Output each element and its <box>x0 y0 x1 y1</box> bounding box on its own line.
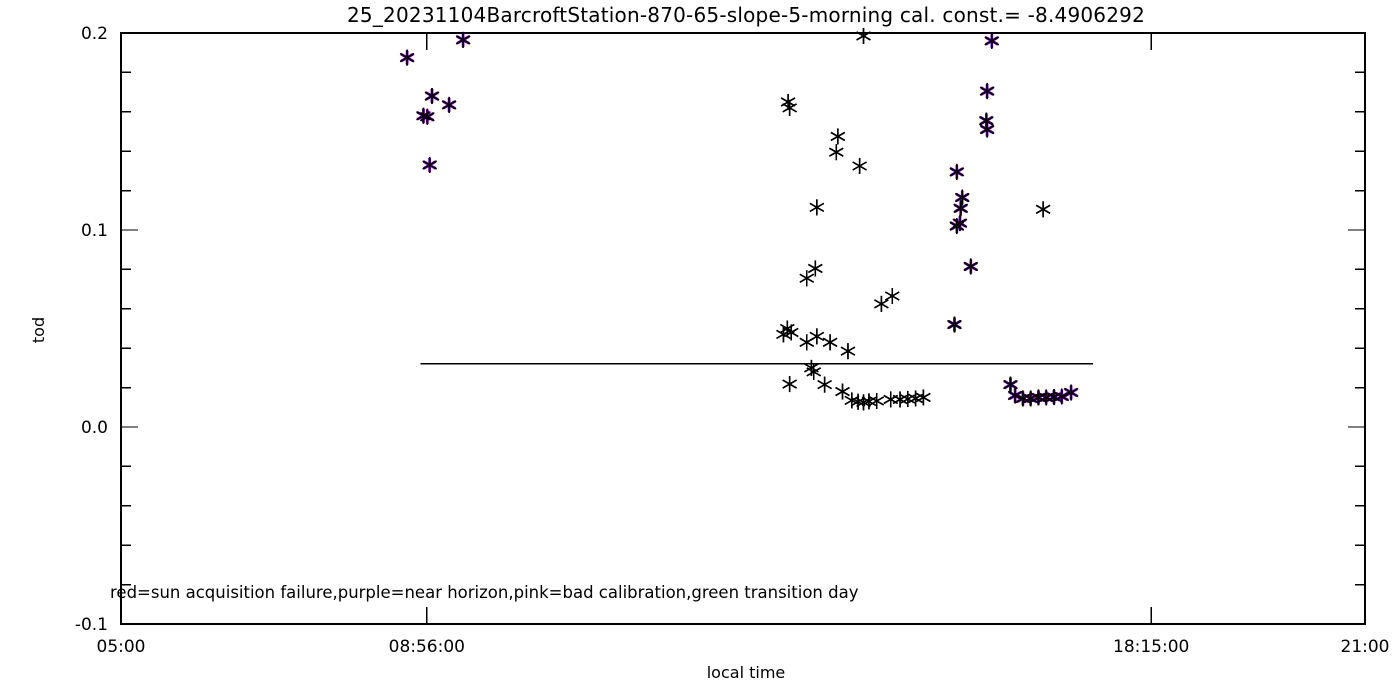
marker-asterisk <box>901 391 915 407</box>
marker-asterisk <box>442 97 456 113</box>
x-tick-label: 05:00 <box>97 637 146 657</box>
marker-asterisk <box>884 391 898 407</box>
marker-asterisk <box>425 88 439 104</box>
y-tick-labels: 0.20.10.0-0.1 <box>75 24 108 635</box>
marker-asterisk <box>1036 201 1050 217</box>
x-axis-label: local time <box>707 663 786 682</box>
marker-asterisk <box>783 100 797 116</box>
x-tick-label: 18:15:00 <box>1113 637 1189 657</box>
marker-asterisk <box>818 377 832 393</box>
plot-canvas: 25_20231104BarcroftStation-870-65-slope-… <box>0 0 1400 700</box>
data-markers <box>400 28 1078 410</box>
marker-asterisk <box>893 391 907 407</box>
marker-asterisk <box>874 296 888 312</box>
marker-asterisk <box>456 32 470 48</box>
x-tick-label: 08:56:00 <box>389 637 465 657</box>
marker-asterisk <box>810 328 824 344</box>
marker-asterisk <box>808 260 822 276</box>
marker-asterisk <box>423 157 437 173</box>
marker-asterisk <box>950 164 964 180</box>
y-tick-label: 0.1 <box>81 221 108 241</box>
y-tick-label: -0.1 <box>75 615 108 635</box>
marker-asterisk <box>870 393 884 409</box>
marker-asterisk <box>823 334 837 350</box>
axis-ticks <box>121 33 1365 624</box>
marker-asterisk <box>955 190 969 206</box>
marker-asterisk <box>853 158 867 174</box>
marker-asterisk <box>831 128 845 144</box>
y-tick-label: 0.2 <box>81 24 108 44</box>
marker-asterisk <box>980 83 994 99</box>
marker-asterisk <box>841 343 855 359</box>
plot-title: 25_20231104BarcroftStation-870-65-slope-… <box>347 3 1145 27</box>
marker-asterisk <box>985 33 999 49</box>
marker-asterisk <box>857 28 871 44</box>
x-tick-labels: 05:0008:56:0018:15:0021:00 <box>97 637 1390 657</box>
marker-asterisk <box>800 334 814 350</box>
marker-asterisk <box>800 270 814 286</box>
plot-frame <box>121 33 1365 624</box>
y-tick-label: 0.0 <box>81 418 108 438</box>
marker-asterisk <box>783 376 797 392</box>
x-tick-label: 21:00 <box>1341 637 1390 657</box>
marker-asterisk <box>885 288 899 304</box>
marker-asterisk <box>954 200 968 216</box>
marker-asterisk <box>964 258 978 274</box>
y-axis-label: tod <box>29 317 48 343</box>
marker-asterisk <box>950 218 964 234</box>
scatter-plot-figure: 25_20231104BarcroftStation-870-65-slope-… <box>0 0 1400 700</box>
marker-asterisk <box>948 317 962 333</box>
marker-asterisk <box>810 199 824 215</box>
legend-note: red=sun acquisition failure,purple=near … <box>110 583 859 602</box>
marker-asterisk <box>400 50 414 66</box>
marker-asterisk <box>829 144 843 160</box>
